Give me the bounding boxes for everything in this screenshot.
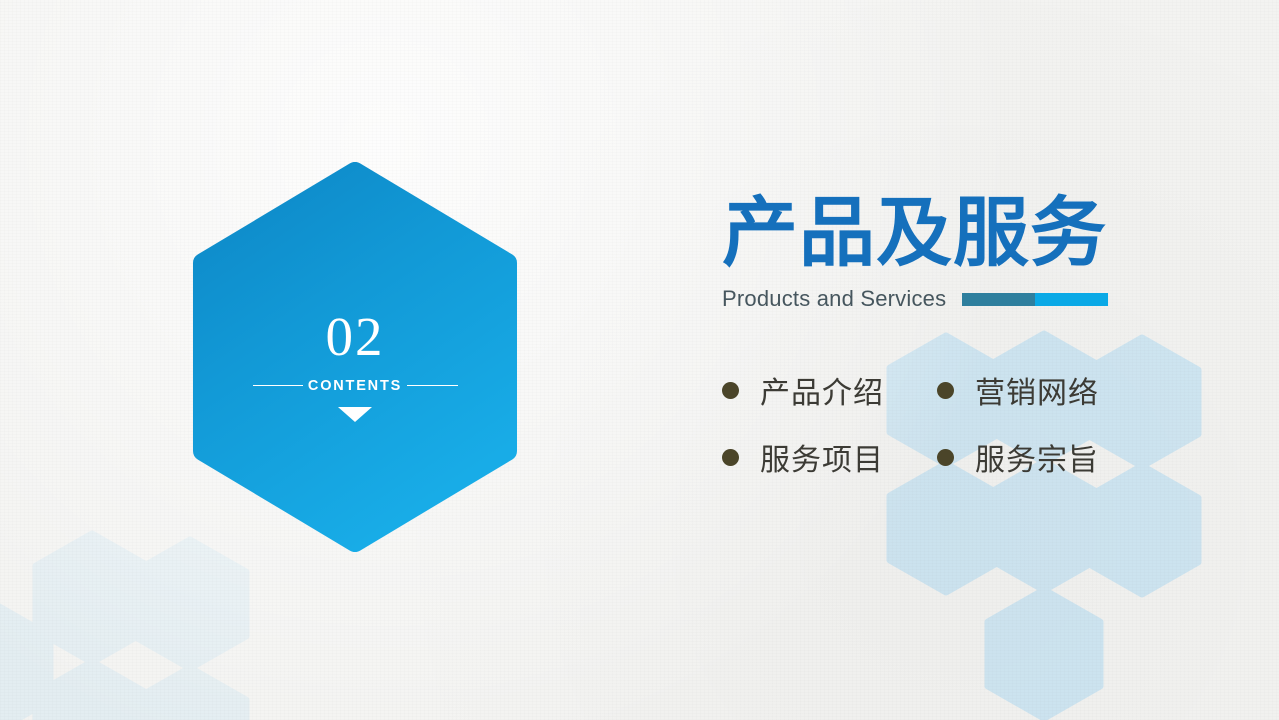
contents-label: CONTENTS [303,378,407,394]
triangle-down-icon [338,407,372,422]
list-item[interactable]: 产品介绍 [722,368,937,412]
list-item-label: 服务项目 [760,435,884,479]
list-item[interactable]: 营销网络 [937,368,1152,412]
list-item-label: 服务宗旨 [975,435,1099,479]
page-title: 产品及服务 [722,196,1192,272]
page-subtitle: Products and Services [722,286,946,312]
presentation-slide: 02 CONTENTS 产品及服务 Products and Services … [0,0,1279,720]
section-content: 产品及服务 Products and Services 产品介绍 营销网络 服务… [722,196,1192,479]
accent-bar [962,293,1108,306]
list-item[interactable]: 服务项目 [722,435,937,479]
subtitle-row: Products and Services [722,286,1192,312]
accent-bar-segment-right [1035,293,1108,306]
agenda-list: 产品介绍 营销网络 服务项目 服务宗旨 [722,368,1192,479]
divider-line-left [253,385,303,386]
bullet-dot-icon [937,382,954,399]
section-number: 02 [326,309,385,364]
bullet-dot-icon [937,449,954,466]
divider-line-right [407,385,457,386]
list-item[interactable]: 服务宗旨 [937,435,1152,479]
accent-bar-segment-left [962,293,1035,306]
bullet-dot-icon [722,449,739,466]
list-item-label: 产品介绍 [760,368,884,412]
section-number-hexagon-badge: 02 CONTENTS [183,162,527,552]
contents-divider: CONTENTS [253,378,458,394]
list-item-label: 营销网络 [975,368,1099,412]
bullet-dot-icon [722,382,739,399]
